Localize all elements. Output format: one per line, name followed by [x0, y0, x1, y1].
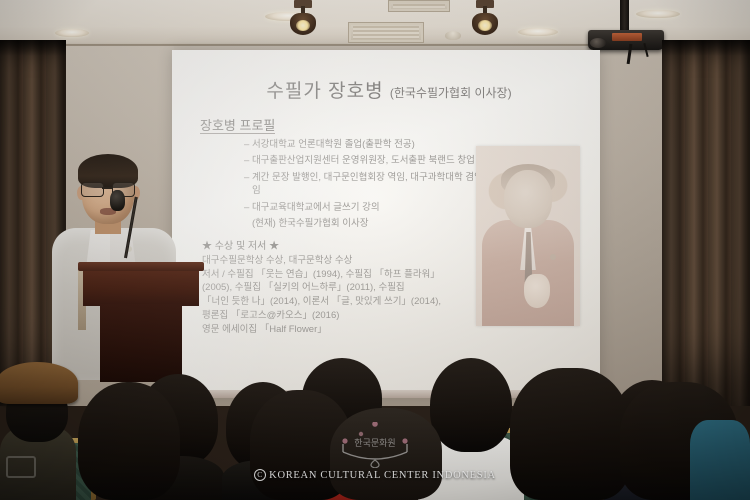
curtain-top-shadow [0, 40, 66, 56]
audience-member [330, 408, 442, 500]
presentation-photo: 수필가 장호병 (한국수필가협회 이사장) 장호병 프로필 서강대학교 언론대학… [0, 0, 750, 500]
awards-line: 「너인 듯한 나」(2014), 이론서 「글, 맛있게 쓰기」(2014), [202, 295, 502, 309]
audience-member-teal [690, 420, 750, 500]
slide-portrait-photo [476, 146, 580, 326]
ceiling-air-vent [348, 22, 424, 43]
audience-member [74, 382, 184, 500]
podium-top-edge [78, 262, 204, 271]
list-item: 대구교육대학교에서 글쓰기 강의 [244, 201, 512, 214]
awards-line: 저서 / 수필집 「웃는 연습」(1994), 수필집 「하프 플라워」 [202, 268, 502, 282]
curtain-top-shadow [662, 40, 750, 56]
portrait-face [504, 170, 552, 228]
projector-label-strip [612, 33, 642, 41]
speaker-glasses [81, 182, 135, 196]
slide-title-main: 수필가 장호병 [266, 81, 383, 102]
audience-rows [0, 310, 750, 500]
smoke-detector [445, 31, 461, 40]
list-item-note: (현재) 한국수필가협회 이사장 [244, 217, 512, 230]
portrait-lapel-pin [550, 254, 556, 260]
list-item: 서강대학교 언론대학원 졸업(출판학 전공) [244, 138, 512, 151]
ceiling-air-vent [388, 0, 450, 12]
podium-front-panel [83, 270, 199, 306]
recessed-light [636, 10, 680, 18]
recessed-light [55, 29, 89, 37]
audience-member [510, 368, 630, 500]
slide-title: 수필가 장호병 (한국수필가협회 이사장) [194, 76, 584, 103]
list-item: 계간 문장 발행인, 대구문인협회장 역임, 대구과학대학 겸임교수역임 [244, 171, 512, 198]
projector-lens [590, 38, 606, 48]
list-item: 대구출판산업지원센터 운영위원장, 도서출판 북랜드 창업 경영 [244, 154, 512, 167]
slide-bullet-list: 서강대학교 언론대학원 졸업(출판학 전공) 대구출판산업지원센터 운영위원장,… [204, 138, 512, 231]
audience-member-with-hat [0, 350, 76, 500]
portrait-hand [524, 274, 550, 308]
brown-hat-icon [0, 362, 78, 404]
awards-line: (2005), 수필집 「실키의 어느하루」(2011), 수필집 [202, 281, 502, 295]
slide-title-sub: (한국수필가협회 이사장) [390, 86, 512, 100]
awards-line: 대구수필문학상 수상, 대구문학상 수상 [202, 254, 502, 268]
recessed-light [518, 28, 558, 36]
projector-mount-pole [620, 0, 629, 34]
slide-heading: 장호병 프로필 [200, 115, 584, 134]
microphone-icon [110, 190, 125, 211]
